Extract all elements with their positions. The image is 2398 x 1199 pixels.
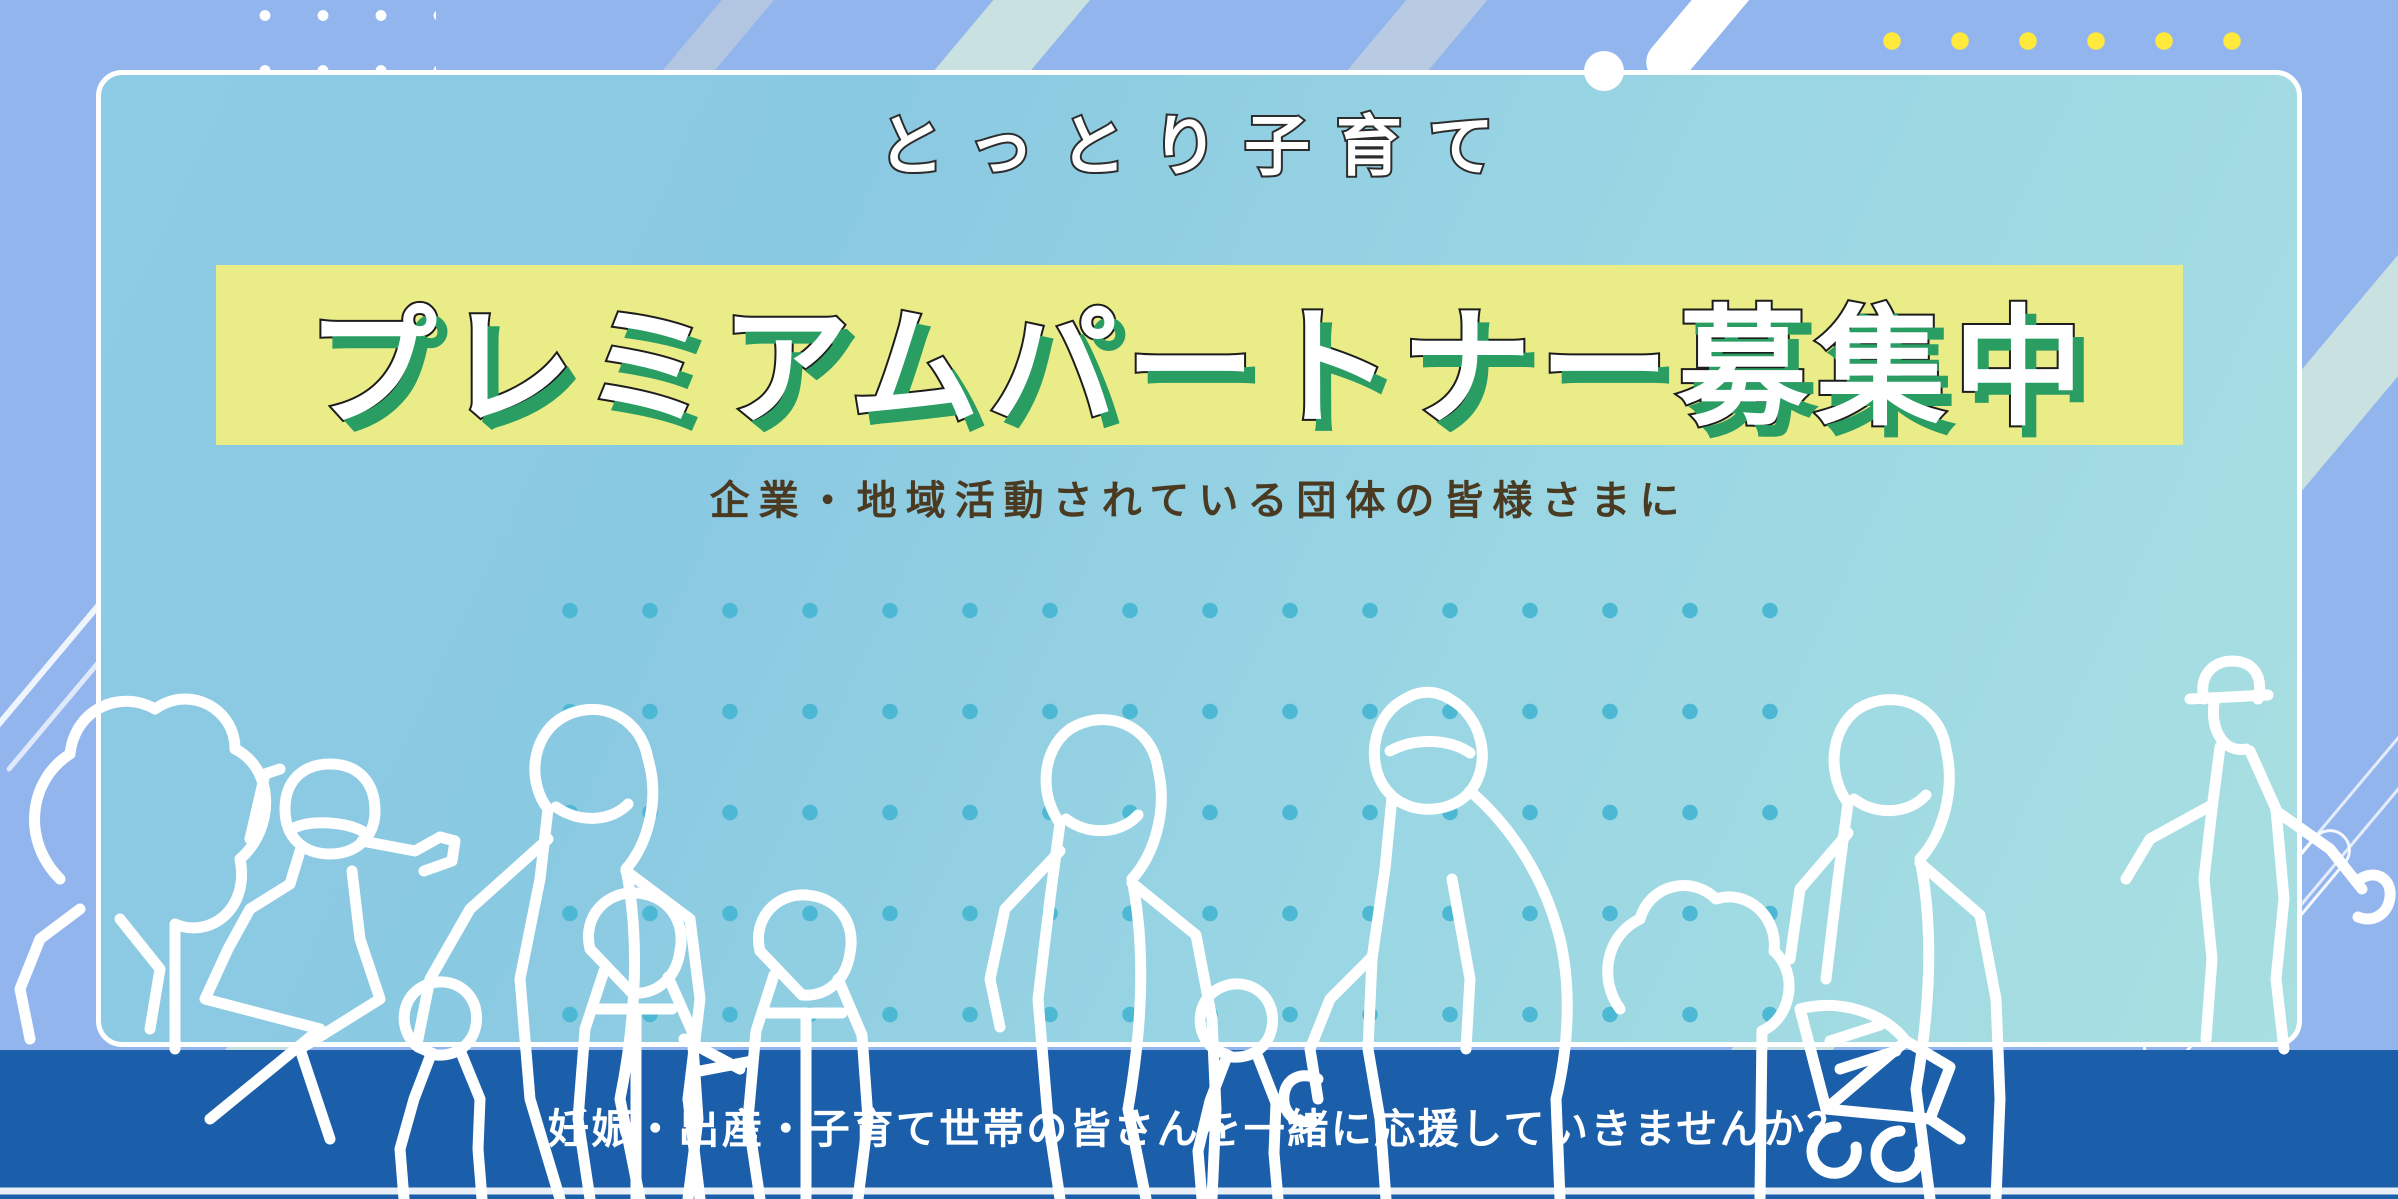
banner-pretitle: とっとり子育て [0,93,2398,189]
family-silhouette-line-art [0,579,2398,1199]
banner-headline: プレミアムパートナー募集中 [0,272,2398,442]
promo-banner: とっとり子育て プレミアムパートナー募集中 企業・地域活動されている団体の皆様さ… [0,0,2398,1199]
white-circle-decoration [1584,51,1624,91]
banner-subtitle: 企業・地域活動されている団体の皆様さまに [0,468,2398,526]
